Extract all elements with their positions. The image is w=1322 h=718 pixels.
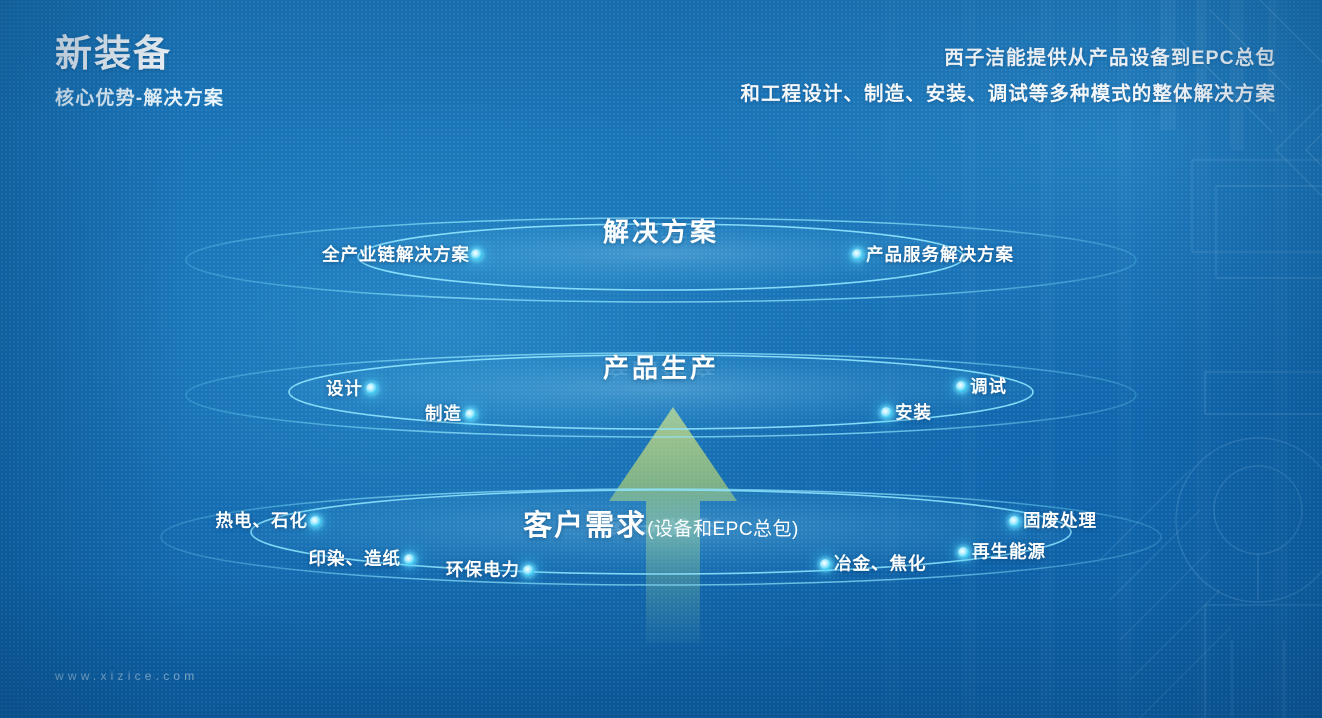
ring-customer-demand: 客户需求(设备和EPC总包) 客户需求 热电、石化 印染、造纸 环保电力 冶金、…: [0, 462, 1322, 612]
node-dot-zhizao[interactable]: [465, 409, 476, 420]
tagline-line-1: 西子洁能提供从产品设备到EPC总包: [740, 40, 1276, 76]
node-label-zaisheng-nengyuan[interactable]: 再生能源: [972, 539, 1046, 564]
node-label-quanchanyelian[interactable]: 全产业链解决方案: [322, 242, 470, 267]
node-label-gufei-chuli[interactable]: 固废处理: [1023, 508, 1097, 533]
node-label-chanpinfuwu[interactable]: 产品服务解决方案: [866, 242, 1014, 267]
tagline-line-2: 和工程设计、制造、安装、调试等多种模式的整体解决方案: [740, 76, 1276, 112]
node-dot-tiaoshi[interactable]: [956, 381, 967, 392]
node-dot-sheji[interactable]: [366, 383, 377, 394]
node-dot-gufei-chuli[interactable]: [1009, 516, 1020, 527]
node-dot-yinran-zaozhi[interactable]: [404, 554, 415, 565]
node-label-tiaoshi[interactable]: 调试: [970, 374, 1007, 399]
slide-canvas: 新装备 核心优势-解决方案 西子洁能提供从产品设备到EPC总包 和工程设计、制造…: [0, 0, 1322, 718]
node-label-yejin-jiaohua[interactable]: 冶金、焦化: [834, 551, 927, 576]
node-dot-redian-shihua[interactable]: [310, 516, 321, 527]
header-left-block: 新装备 核心优势-解决方案: [55, 33, 224, 110]
page-subtitle: 核心优势-解决方案: [55, 83, 224, 110]
footer-website-url[interactable]: www.xizice.com: [55, 669, 198, 683]
node-label-yinran-zaozhi[interactable]: 印染、造纸: [309, 546, 402, 571]
node-dot-quanchanyelian[interactable]: [471, 249, 482, 260]
ring-production: 产品生产 产品生产 设计 制造 安装 调试: [0, 320, 1322, 470]
node-dot-zaisheng-nengyuan[interactable]: [958, 547, 969, 558]
node-label-huanbao-dianli[interactable]: 环保电力: [446, 557, 520, 582]
node-dot-anzhuang[interactable]: [881, 407, 892, 418]
node-label-anzhuang[interactable]: 安装: [895, 400, 932, 425]
page-title: 新装备: [55, 33, 224, 74]
node-dot-huanbao-dianli[interactable]: [523, 565, 534, 576]
node-label-redian-shihua[interactable]: 热电、石化: [216, 508, 309, 533]
ring-solutions: 解决方案 解决方案 全产业链解决方案 产品服务解决方案: [0, 185, 1322, 335]
node-dot-yejin-jiaohua[interactable]: [820, 559, 831, 570]
node-label-zhizao[interactable]: 制造: [425, 401, 462, 426]
node-label-sheji[interactable]: 设计: [326, 376, 363, 401]
header-tagline: 西子洁能提供从产品设备到EPC总包 和工程设计、制造、安装、调试等多种模式的整体…: [740, 40, 1276, 112]
node-dot-chanpinfuwu[interactable]: [852, 249, 863, 260]
